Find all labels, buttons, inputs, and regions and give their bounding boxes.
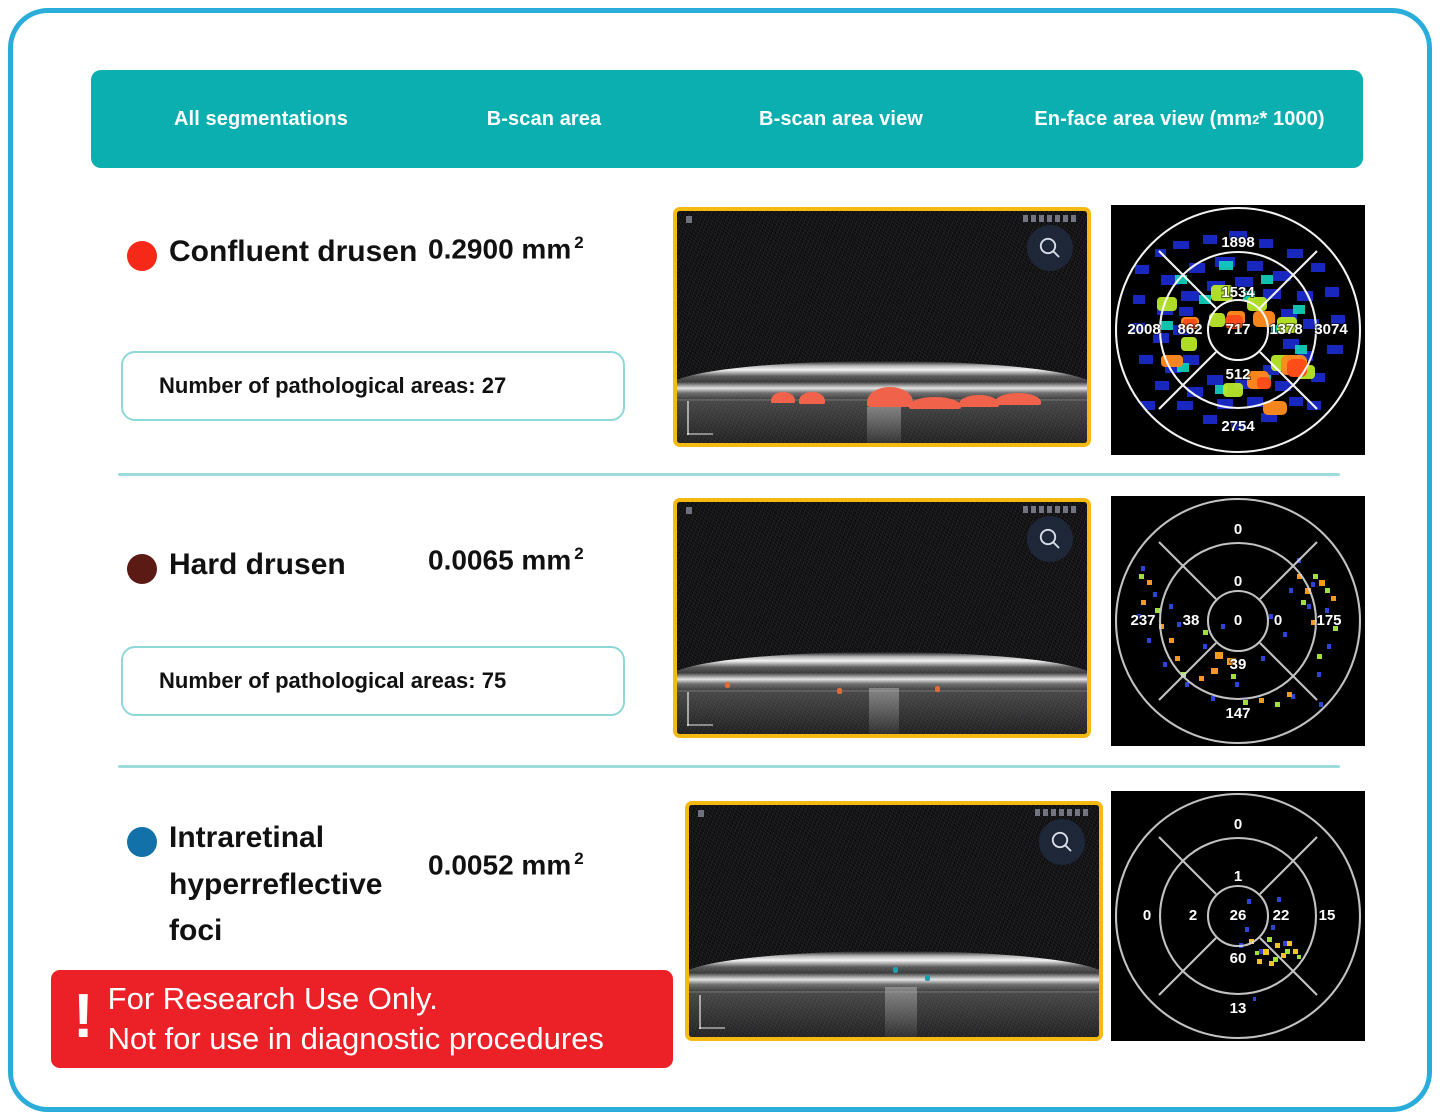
enface-value-outer-top: 0 <box>1234 816 1242 833</box>
bscan-image-confluent-drusen[interactable] <box>673 207 1091 447</box>
foci-marker <box>837 688 842 694</box>
segmentation-name: Hard drusen <box>169 542 419 589</box>
column-header-suffix: * 1000) <box>1259 108 1324 131</box>
enface-map-confluent-drusen[interactable]: 1898 2008 3074 2754 1534 862 1378 512 71… <box>1111 205 1365 455</box>
drusen-overlay <box>995 393 1041 405</box>
bscan-corner-marker <box>686 507 692 514</box>
enface-value-center: 26 <box>1230 907 1247 924</box>
enface-map-intraretinal-hyperreflective-foci[interactable]: 0 0 15 13 1 2 22 60 26 <box>1111 791 1365 1041</box>
enface-value-outer-right: 15 <box>1319 907 1336 924</box>
banner-line-1: For Research Use Only. <box>108 979 604 1019</box>
search-icon[interactable] <box>1039 819 1085 865</box>
enface-value-inner-right: 22 <box>1273 907 1290 924</box>
column-header-label: B-scan area <box>487 108 602 131</box>
drusen-overlay <box>909 397 961 409</box>
foci-marker <box>925 975 930 981</box>
banner-line-2: Not for use in diagnostic procedures <box>108 1019 604 1059</box>
table-row: Hard drusen 0.0065 mm2 Number of patholo… <box>13 496 1427 746</box>
segmentation-name: Intraretinal hyperreflective foci <box>169 815 419 955</box>
scale-marker <box>687 401 689 435</box>
exclamation-mark-icon: ! <box>73 988 94 1045</box>
bscan-metadata-text <box>1035 809 1089 816</box>
bscan-corner-marker <box>698 810 704 817</box>
bscan-image-hard-drusen[interactable] <box>673 498 1091 738</box>
shadow-band <box>885 987 917 1037</box>
enface-value-outer-left: 2008 <box>1127 321 1160 338</box>
scale-marker <box>687 433 713 435</box>
column-header-label: B-scan area view <box>759 108 923 131</box>
search-icon[interactable] <box>1027 516 1073 562</box>
foci-marker <box>725 682 730 688</box>
enface-value-center: 717 <box>1225 321 1250 338</box>
bscan-metadata-text <box>1023 506 1077 513</box>
banner-text: For Research Use Only. Not for use in di… <box>108 979 604 1058</box>
enface-value-outer-left: 0 <box>1143 907 1151 924</box>
column-header-enface-area-view: En-face area view (mm2 * 1000) <box>996 70 1363 168</box>
pathological-areas-box: Number of pathological areas: 27 <box>121 351 625 421</box>
segmentation-name: Confluent drusen <box>169 229 419 276</box>
column-header-superscript: 2 <box>1252 112 1259 127</box>
enface-value-outer-top: 0 <box>1234 521 1242 538</box>
enface-value-inner-right: 0 <box>1274 612 1282 629</box>
foci-marker <box>893 967 898 973</box>
pathological-areas-box: Number of pathological areas: 75 <box>121 646 625 716</box>
bscan-area-value: 0.0052 mm2 <box>428 849 584 881</box>
bscan-area-value: 0.2900 mm2 <box>428 233 584 265</box>
column-header-all-segmentations: All segmentations <box>91 70 431 168</box>
drusen-overlay <box>959 395 999 407</box>
legend-dot-intraretinal-hyperreflective-foci <box>127 827 157 857</box>
enface-value-inner-left: 862 <box>1177 321 1202 338</box>
legend-dot-hard-drusen <box>127 554 157 584</box>
enface-value-outer-bottom: 13 <box>1230 1000 1247 1017</box>
research-use-warning-banner: ! For Research Use Only. Not for use in … <box>51 970 673 1068</box>
table-header: All segmentations B-scan area B-scan are… <box>91 70 1363 168</box>
pathological-areas-label: Number of pathological areas: 27 <box>159 373 506 399</box>
column-header-bscan-area-view: B-scan area view <box>681 70 1001 168</box>
bscan-image-intraretinal-hyperreflective-foci[interactable] <box>685 801 1103 1041</box>
enface-value-outer-bottom: 147 <box>1225 705 1250 722</box>
column-header-bscan-area: B-scan area <box>409 70 679 168</box>
scale-marker <box>699 995 701 1029</box>
enface-value-outer-top: 1898 <box>1221 234 1254 251</box>
shadow-band <box>869 688 899 734</box>
pathological-areas-label: Number of pathological areas: 75 <box>159 668 506 694</box>
enface-value-outer-right: 3074 <box>1314 321 1348 338</box>
shadow-band <box>867 407 901 445</box>
enface-value-inner-bottom: 60 <box>1230 950 1247 967</box>
enface-value-outer-right: 175 <box>1316 612 1341 629</box>
enface-value-outer-left: 237 <box>1130 612 1155 629</box>
scale-marker <box>699 1027 725 1029</box>
scale-marker <box>687 692 689 726</box>
legend-dot-confluent-drusen <box>127 241 157 271</box>
row-divider <box>118 765 1340 768</box>
enface-value-inner-bottom: 512 <box>1225 366 1250 383</box>
search-icon[interactable] <box>1027 225 1073 271</box>
enface-value-inner-top: 0 <box>1234 573 1242 590</box>
bscan-area-value: 0.0065 mm2 <box>428 544 584 576</box>
foci-marker <box>935 686 940 692</box>
column-header-label: En-face area view (mm <box>1034 108 1252 131</box>
column-header-label: All segmentations <box>174 108 348 131</box>
drusen-overlay <box>799 392 825 404</box>
enface-value-outer-bottom: 2754 <box>1221 418 1255 435</box>
enface-value-inner-left: 38 <box>1183 612 1200 629</box>
enface-value-center: 0 <box>1234 612 1242 629</box>
report-card: All segmentations B-scan area B-scan are… <box>8 8 1432 1112</box>
enface-value-inner-left: 2 <box>1189 907 1197 924</box>
enface-value-inner-top: 1 <box>1234 868 1242 885</box>
bscan-metadata-text <box>1023 215 1077 222</box>
bscan-corner-marker <box>686 216 692 223</box>
drusen-overlay <box>771 392 795 403</box>
enface-value-inner-top: 1534 <box>1221 284 1255 301</box>
enface-value-inner-bottom: 39 <box>1230 656 1247 673</box>
enface-value-inner-right: 1378 <box>1269 321 1302 338</box>
scale-marker <box>687 724 713 726</box>
row-divider <box>118 473 1340 476</box>
table-row: Confluent drusen 0.2900 mm2 Number of pa… <box>13 203 1427 459</box>
enface-map-hard-drusen[interactable]: 0 237 175 147 0 38 0 39 0 <box>1111 496 1365 746</box>
